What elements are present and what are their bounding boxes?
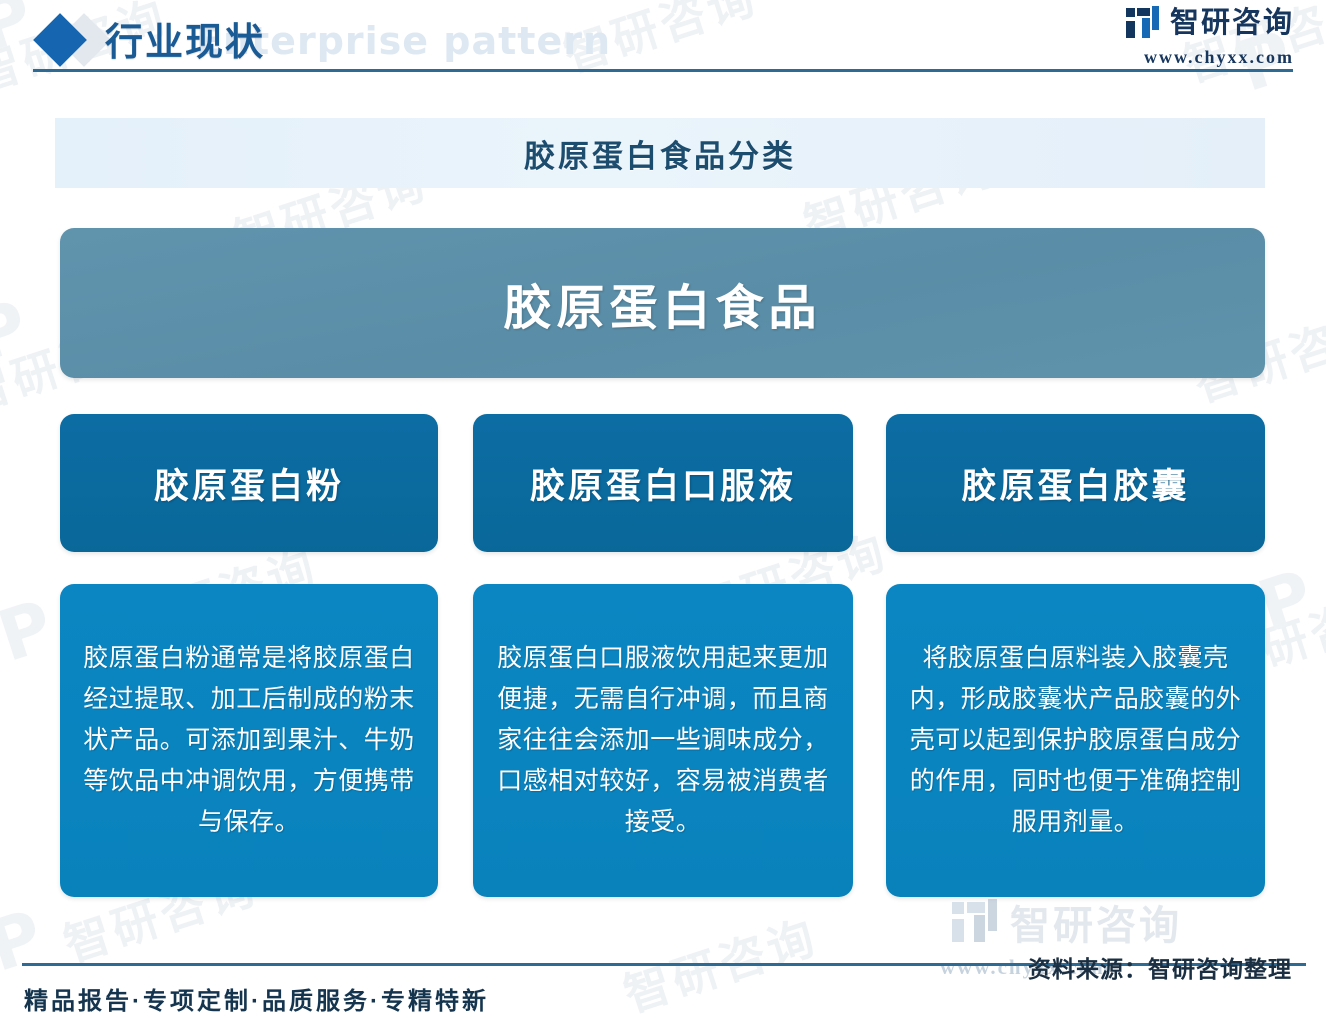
header-divider <box>33 69 1293 72</box>
footer-slogan: 精品报告·专项定制·品质服务·专精特新 <box>24 981 489 1016</box>
brand-logo[interactable]: 智研咨询 www.chyxx.com <box>1126 6 1294 68</box>
chart-title: 胶原蛋白食品分类 <box>524 131 796 176</box>
watermark-logo-icon: P <box>0 284 38 378</box>
source-note: 资料来源：智研咨询整理 <box>1028 950 1292 984</box>
diagram-description-node[interactable]: 胶原蛋白口服液饮用起来更加便捷，无需自行冲调，而且商家往往会添加一些调味成分，口… <box>473 584 853 897</box>
diagram-category-node[interactable]: 胶原蛋白粉 <box>60 414 438 552</box>
diagram-category-label: 胶原蛋白胶囊 <box>961 458 1189 509</box>
diagram-category-label: 胶原蛋白粉 <box>154 458 344 509</box>
brand-url[interactable]: www.chyxx.com <box>1126 47 1294 68</box>
diagram-root-label: 胶原蛋白食品 <box>503 268 821 338</box>
bottom-brand-watermark: 智研咨询 <box>952 893 1182 951</box>
diagram-category-node[interactable]: 胶原蛋白胶囊 <box>886 414 1265 552</box>
page-title: 行业现状 <box>105 11 265 66</box>
diagram-description-node[interactable]: 胶原蛋白粉通常是将胶原蛋白经过提取、加工后制成的粉末状产品。可添加到果汁、牛奶等… <box>60 584 438 897</box>
chart-title-banner: 胶原蛋白食品分类 <box>55 118 1265 188</box>
chyxx-logo-icon <box>1126 6 1160 40</box>
diagram-category-label: 胶原蛋白口服液 <box>530 458 796 509</box>
diagram-description-text: 胶原蛋白口服液饮用起来更加便捷，无需自行冲调，而且商家往往会添加一些调味成分，口… <box>495 638 831 843</box>
diagram-root-node[interactable]: 胶原蛋白食品 <box>60 228 1265 378</box>
diagram-description-node[interactable]: 将胶原蛋白原料装入胶囊壳内，形成胶囊状产品胶囊的外壳可以起到保护胶原蛋白成分的作… <box>886 584 1265 897</box>
brand-name: 智研咨询 <box>1170 9 1294 38</box>
chyxx-logo-icon <box>952 899 998 945</box>
diagram-description-text: 将胶原蛋白原料装入胶囊壳内，形成胶囊状产品胶囊的外壳可以起到保护胶原蛋白成分的作… <box>908 638 1243 843</box>
bottom-brand-name: 智研咨询 <box>1010 893 1182 951</box>
watermark-logo-icon: P <box>0 894 53 988</box>
watermark-logo-icon: P <box>0 584 63 678</box>
watermark-text: 智研咨询 <box>615 901 826 1018</box>
diagram-description-text: 胶原蛋白粉通常是将胶原蛋白经过提取、加工后制成的粉末状产品。可添加到果汁、牛奶等… <box>82 638 416 843</box>
diagram-category-node[interactable]: 胶原蛋白口服液 <box>473 414 853 552</box>
